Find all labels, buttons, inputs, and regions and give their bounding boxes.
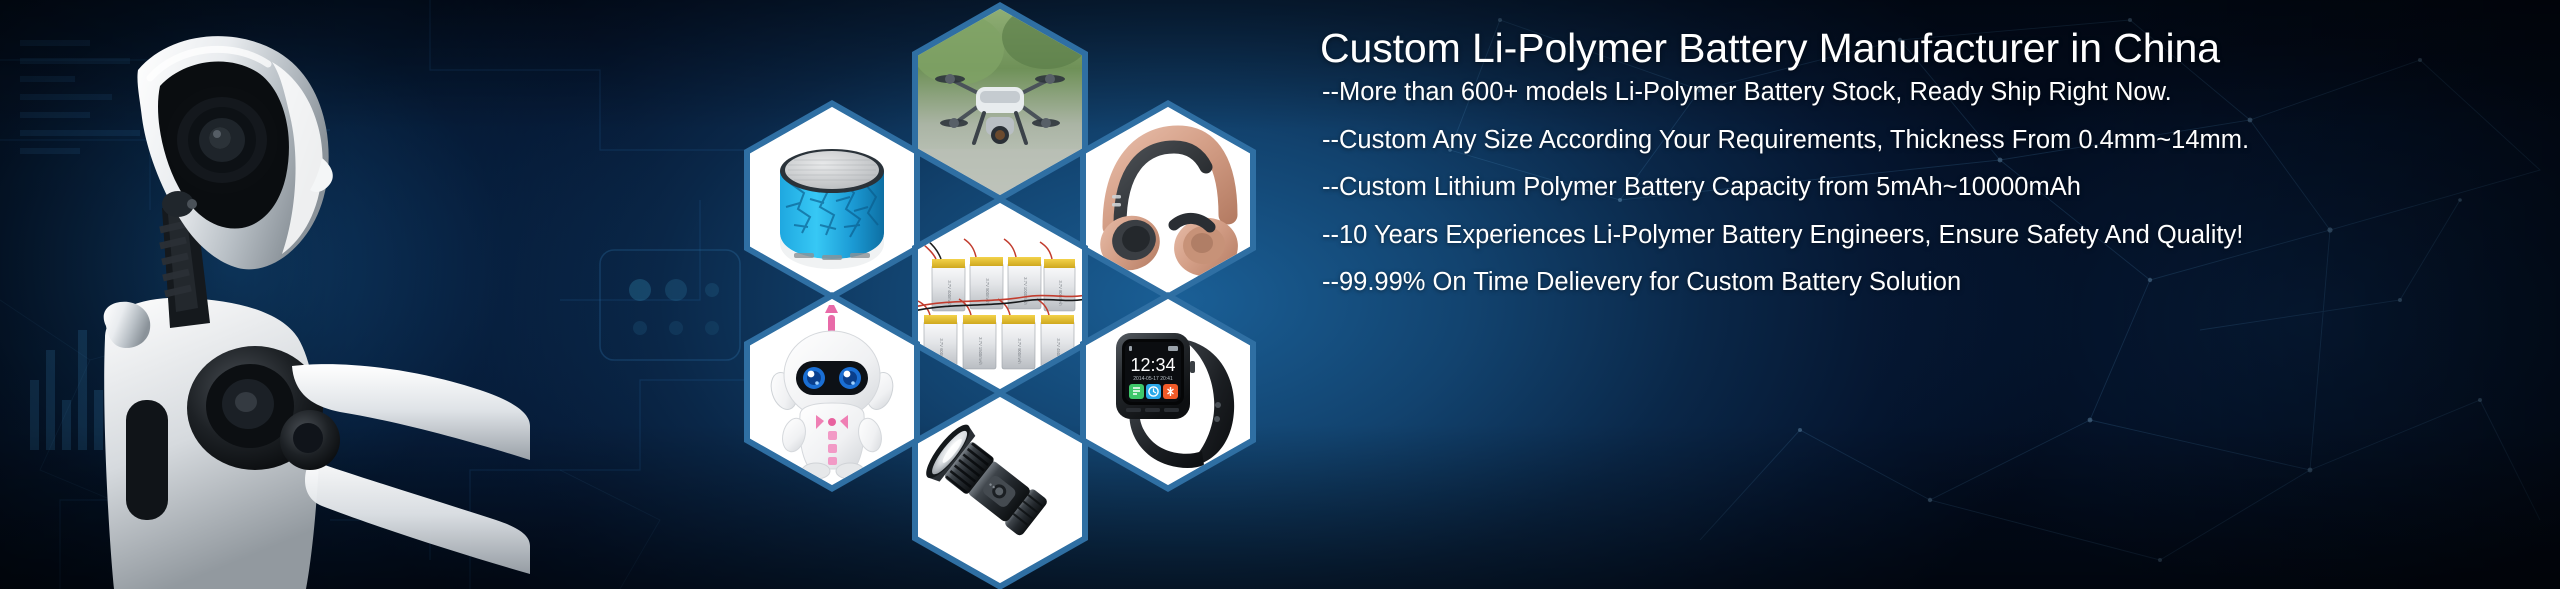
- bluetooth-speaker-icon: [750, 107, 914, 293]
- hex-cell-flashlight: [912, 390, 1088, 589]
- list-item: --99.99% On Time Delievery for Custom Ba…: [1316, 270, 2516, 296]
- list-item: --10 Years Experiences Li-Polymer Batter…: [1316, 223, 2516, 249]
- hex-cell-robot-toy: [744, 292, 920, 492]
- svg-text:3.7V 450mAh: 3.7V 450mAh: [1056, 338, 1061, 364]
- hex-cell-smartwatch: 12:34 2014-05-17 20:41: [1080, 292, 1256, 492]
- promo-banner: 3.7V 400mAh 3.7V 500mAh 3.7V 1: [0, 0, 2560, 589]
- list-item: --Custom Lithium Polymer Battery Capacit…: [1316, 175, 2516, 201]
- svg-text:3.7V 800mAh: 3.7V 800mAh: [1058, 280, 1063, 306]
- smartwatch-icon: 12:34 2014-05-17 20:41: [1086, 299, 1250, 485]
- flashlight-icon: [918, 397, 1082, 583]
- headphones-icon: [1086, 107, 1250, 293]
- feature-list: --More than 600+ models Li-Polymer Batte…: [1316, 80, 2516, 296]
- smartwatch-time: 12:34: [1130, 355, 1175, 375]
- list-item: --More than 600+ models Li-Polymer Batte…: [1316, 80, 2516, 106]
- svg-text:3.7V 600mAh: 3.7V 600mAh: [939, 338, 944, 364]
- robot-toy-icon: [750, 299, 914, 485]
- banner-text-column: Custom Li-Polymer Battery Manufacturer i…: [1316, 20, 2516, 296]
- drone-icon: [918, 9, 1082, 195]
- robot-illustration: [10, 8, 530, 589]
- smartwatch-date: 2014-05-17 20:41: [1133, 376, 1173, 382]
- page-title: Custom Li-Polymer Battery Manufacturer i…: [1320, 26, 2516, 70]
- hex-cell-battery-cells: 3.7V 400mAh 3.7V 500mAh 3.7V 1: [912, 196, 1088, 396]
- hex-cell-drone: [912, 2, 1088, 202]
- list-item: --Custom Any Size According Your Require…: [1316, 128, 2516, 154]
- lipo-battery-cells-icon: 3.7V 400mAh 3.7V 500mAh 3.7V 1: [918, 203, 1082, 389]
- hex-cell-headphones: [1080, 100, 1256, 300]
- svg-text:3.7V 1500mAh: 3.7V 1500mAh: [978, 337, 983, 365]
- hex-cell-speaker: [744, 100, 920, 300]
- product-hexagon-collage: 3.7V 400mAh 3.7V 500mAh 3.7V 1: [700, 0, 1300, 589]
- svg-text:3.7V 900mAh: 3.7V 900mAh: [1017, 338, 1022, 364]
